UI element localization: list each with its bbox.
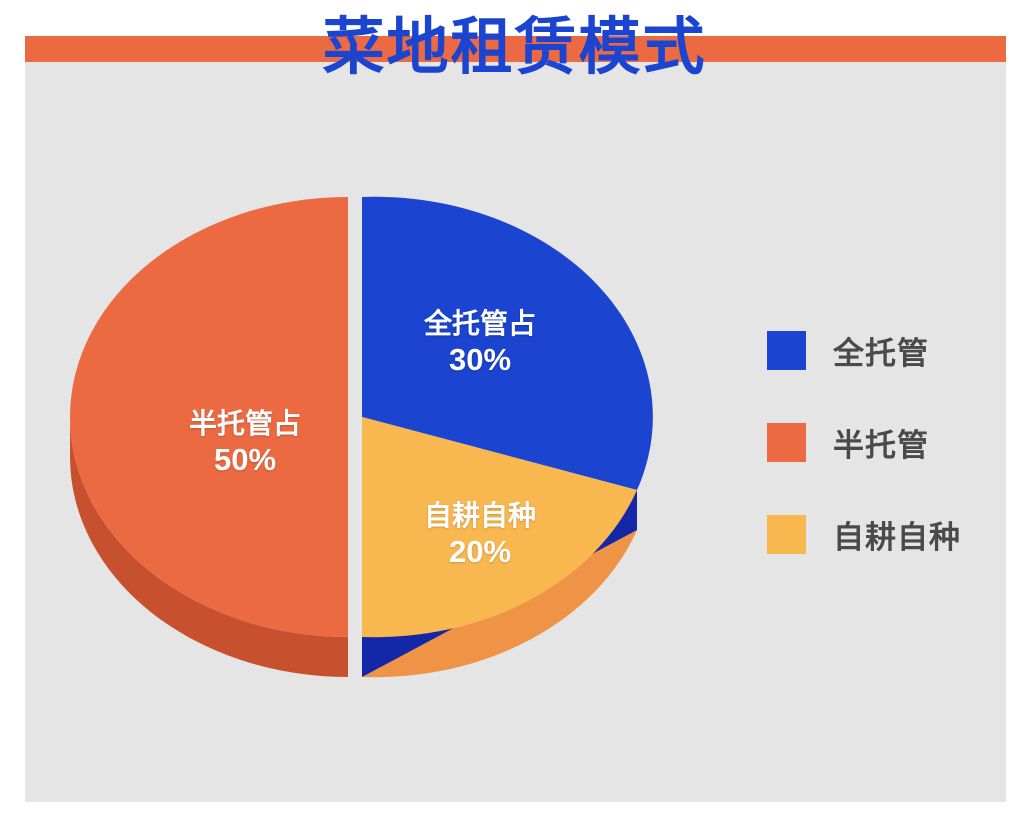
slide-canvas: 菜地租赁模式 全托管占 30% 半托管占 50% (0, 0, 1029, 829)
pie-chart: 全托管占 30% 半托管占 50% 自耕自种 20% 全托管 半托管 自耕自种 (25, 62, 1006, 802)
legend-label-quantuoguan: 全托管 (833, 328, 929, 373)
page-title: 菜地租赁模式 (0, 12, 1029, 84)
chart-legend: 全托管 半托管 自耕自种 (767, 330, 997, 554)
legend-label-zigeng: 自耕自种 (833, 512, 961, 557)
legend-item-zigeng[interactable]: 自耕自种 (767, 514, 997, 554)
legend-swatch-zigeng (767, 515, 806, 554)
legend-label-bantuoguan: 半托管 (833, 420, 929, 465)
legend-swatch-bantuoguan (767, 423, 806, 462)
legend-item-quantuoguan[interactable]: 全托管 (767, 330, 997, 370)
legend-item-bantuoguan[interactable]: 半托管 (767, 422, 997, 462)
legend-swatch-quantuoguan (767, 331, 806, 370)
